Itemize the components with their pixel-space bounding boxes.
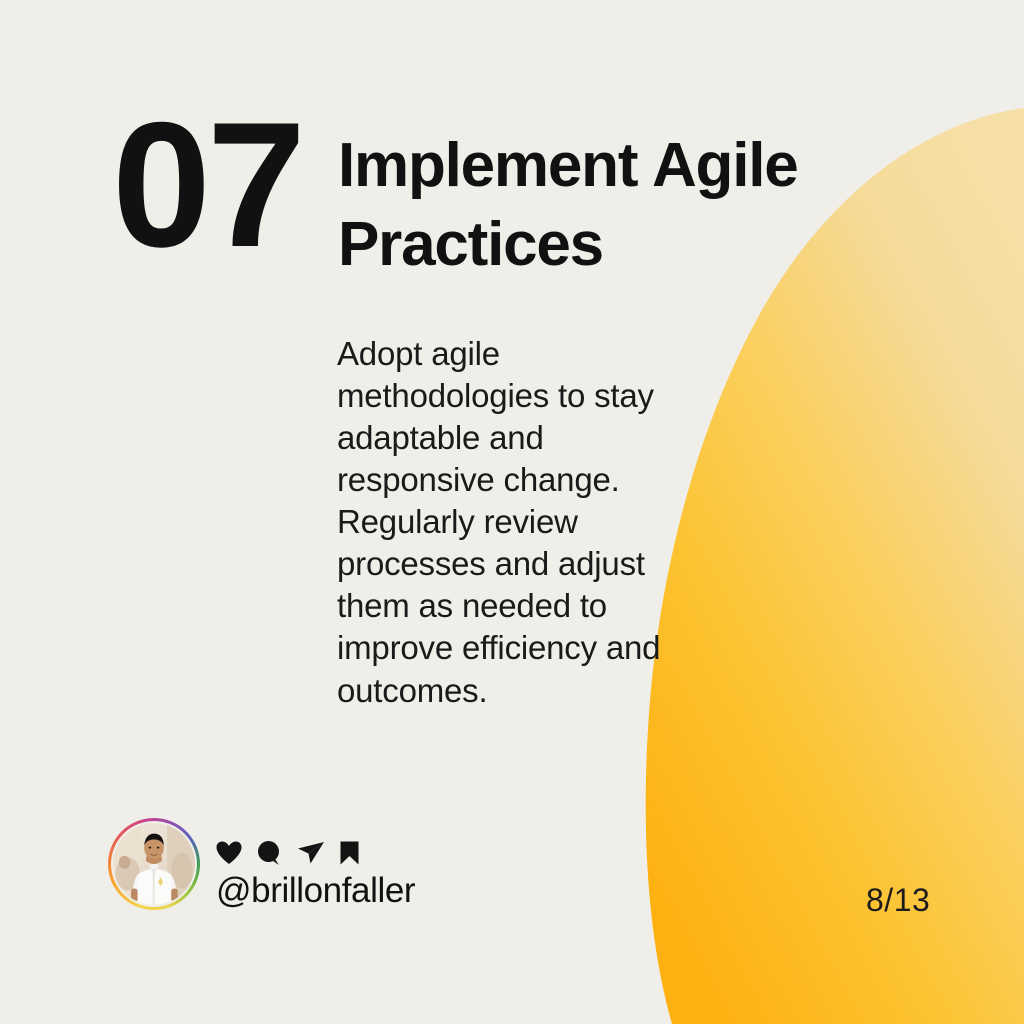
step-number: 07 [112, 112, 338, 258]
instagram-carousel-slide: 07 Implement Agile Practices Adopt agile… [0, 0, 1024, 1024]
avatar[interactable] [111, 821, 197, 907]
heart-icon[interactable] [216, 841, 242, 865]
body-paragraph: Adopt agile methodologies to stay adapta… [337, 333, 682, 712]
footer-credit: @brillonfaller [108, 818, 415, 910]
account-handle[interactable]: @brillonfaller [216, 873, 415, 910]
footer-text-block: @brillonfaller [216, 818, 415, 910]
page-title: Implement Agile Practices [338, 112, 883, 285]
avatar-ring[interactable] [108, 818, 200, 910]
comment-icon[interactable] [257, 841, 282, 865]
social-action-bar [216, 840, 415, 866]
slide-header: 07 Implement Agile Practices [112, 112, 883, 285]
bookmark-icon[interactable] [340, 841, 359, 865]
page-counter: 8/13 [866, 882, 930, 919]
share-icon[interactable] [297, 841, 325, 865]
